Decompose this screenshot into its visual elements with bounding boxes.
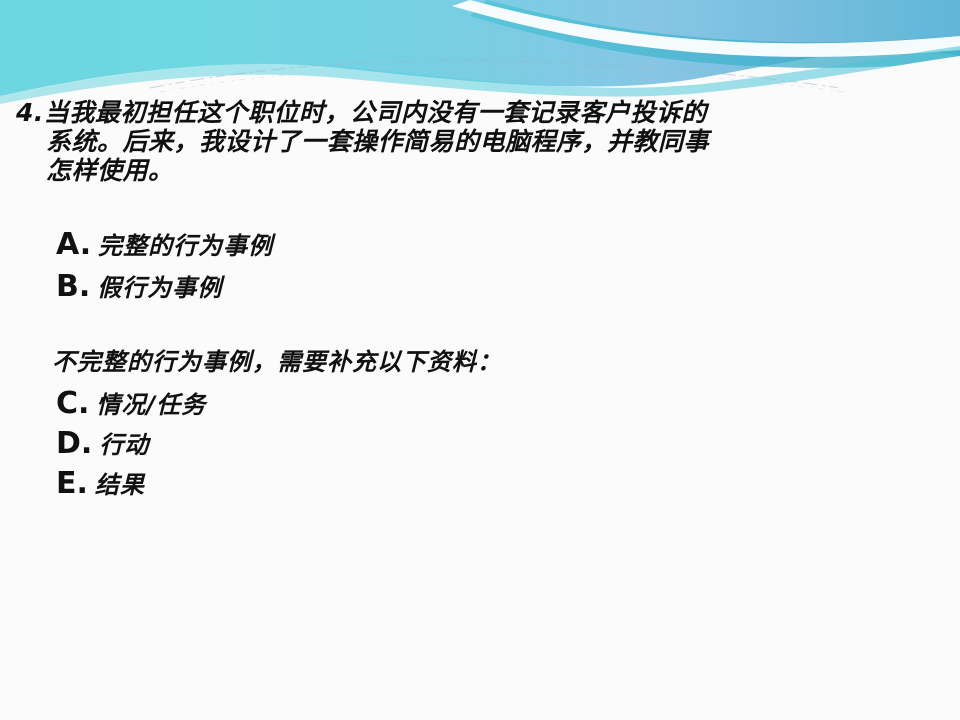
option-d[interactable]: D. 行动 [56, 429, 149, 459]
option-d-text: 行动 [99, 433, 149, 457]
option-b[interactable]: B. 假行为事例 [56, 272, 222, 302]
option-b-letter: B. [56, 272, 90, 302]
option-c-text: 情况/任务 [96, 393, 206, 417]
question-line-2: 系统。后来，我设计了一套操作简易的电脑程序，并教同事 [16, 127, 916, 156]
option-c-letter: C. [56, 389, 89, 419]
question-line-3: 怎样使用。 [16, 156, 916, 185]
question-line-1: 4.当我最初担任这个职位时，公司内没有一套记录客户投诉的 [16, 98, 916, 127]
option-a[interactable]: A. 完整的行为事例 [56, 230, 273, 260]
question-line-1-text: 当我最初担任这个职位时，公司内没有一套记录客户投诉的 [44, 98, 707, 127]
option-d-letter: D. [56, 429, 92, 459]
option-e-text: 结果 [95, 473, 145, 497]
option-a-letter: A. [56, 230, 91, 260]
option-e-letter: E. [56, 469, 88, 499]
option-e[interactable]: E. 结果 [56, 469, 145, 499]
option-a-text: 完整的行为事例 [98, 234, 273, 258]
question-block: 4.当我最初担任这个职位时，公司内没有一套记录客户投诉的 系统。后来，我设计了一… [16, 98, 916, 185]
slide-content: 4.当我最初担任这个职位时，公司内没有一套记录客户投诉的 系统。后来，我设计了一… [0, 0, 960, 720]
option-b-text: 假行为事例 [97, 276, 222, 300]
question-number: 4. [16, 98, 44, 127]
option-c[interactable]: C. 情况/任务 [56, 389, 206, 419]
incomplete-example-note: 不完整的行为事例，需要补充以下资料： [52, 350, 502, 374]
presentation-slide: 4.当我最初担任这个职位时，公司内没有一套记录客户投诉的 系统。后来，我设计了一… [0, 0, 960, 720]
